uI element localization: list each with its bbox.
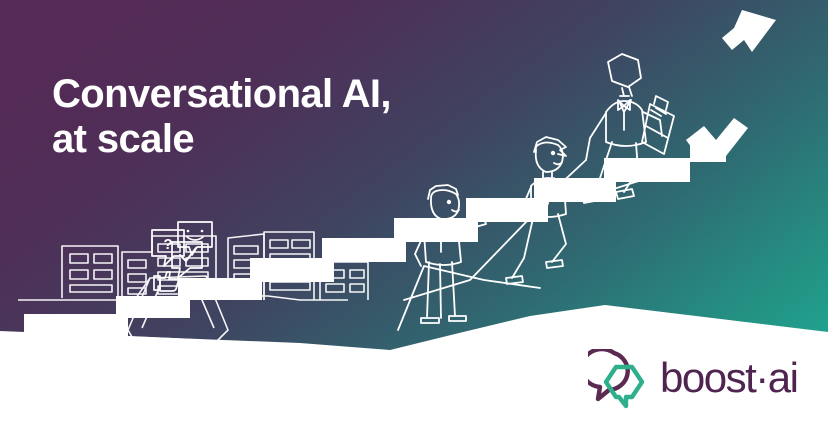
logo-hexagon-bubble	[606, 367, 642, 406]
boost-ai-logo-icon	[588, 349, 652, 409]
person1-eye	[448, 201, 451, 204]
banner: ?	[0, 0, 828, 435]
person2-eye	[552, 152, 555, 155]
logo-circle-bubble	[588, 349, 628, 399]
brand-text: boost·ai	[660, 356, 797, 401]
boost-ai-wordmark: boost·ai	[660, 356, 828, 402]
brand-logo[interactable]: boost·ai	[588, 348, 810, 410]
